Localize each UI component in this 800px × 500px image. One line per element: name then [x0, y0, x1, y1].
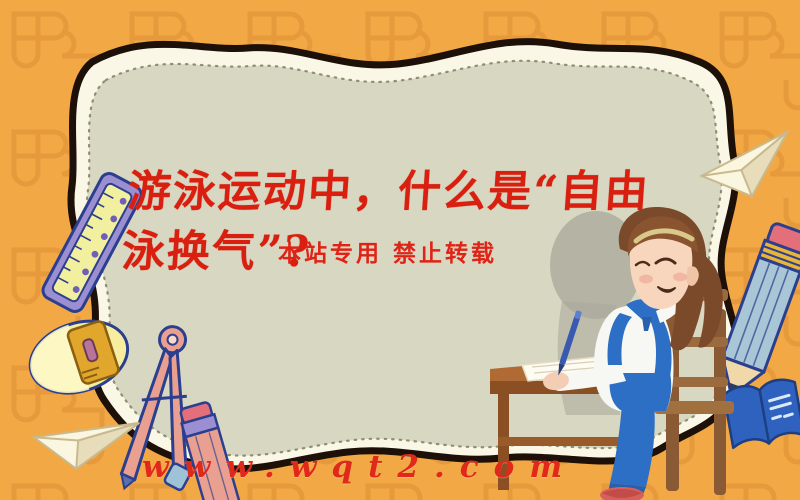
paper-airplane-icon [30, 402, 140, 482]
ruler-icon [38, 168, 148, 318]
overlay-watermark-text: 本站专用 禁止转载 [278, 234, 497, 268]
site-watermark-text: www.wqt2.com [142, 449, 577, 485]
banner-canvas: 游泳运动中，什么是“自由 泳换气”? 本站专用 禁止转载 www.wqt2.co… [0, 0, 800, 500]
paper-airplane-icon [700, 134, 800, 209]
